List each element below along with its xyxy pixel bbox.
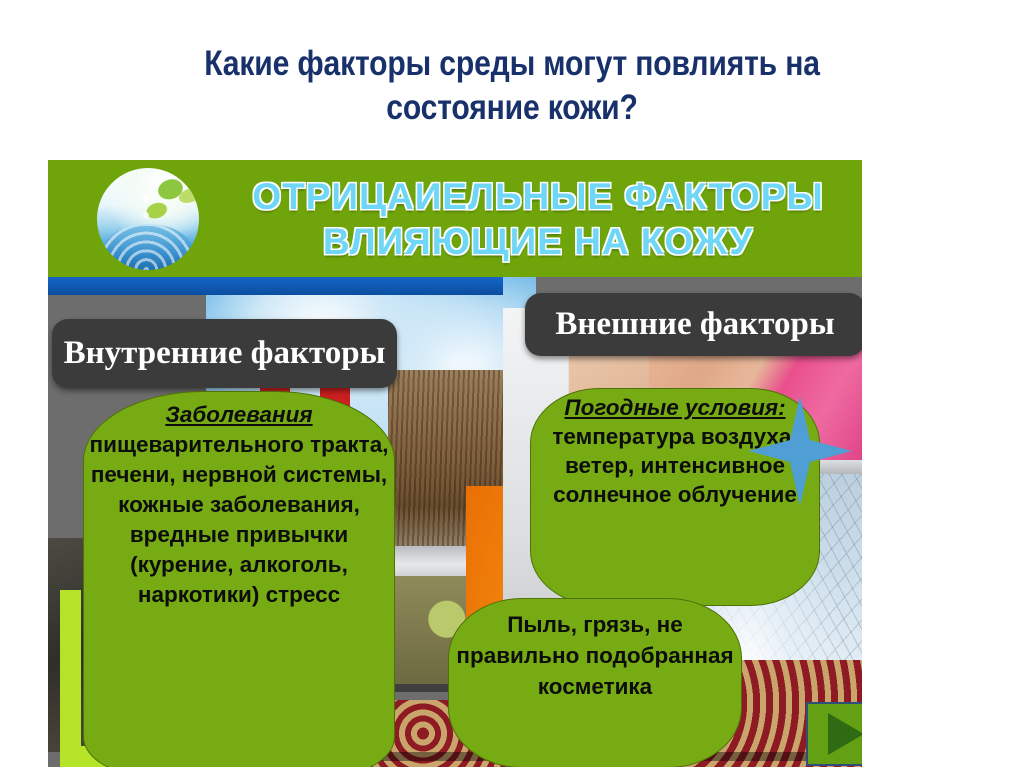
water-bamboo-logo-icon bbox=[97, 168, 199, 270]
badge-external-factors: Внешние факторы bbox=[525, 293, 862, 356]
bubble-weather-heading: Погодные условия: bbox=[564, 393, 785, 422]
bubble-internal-factors: Заболевания пищеварительного тракта, печ… bbox=[83, 391, 395, 767]
play-button[interactable] bbox=[806, 702, 862, 766]
bubble-dust-cosmetics: Пыль, грязь, не правильно подобранная ко… bbox=[448, 598, 742, 767]
accent-strip-vertical bbox=[60, 590, 81, 767]
badge-internal-factors: Внутренние факторы bbox=[52, 319, 397, 388]
bubble-weather-conditions: Погодные условия: температура воздуха, в… bbox=[530, 388, 820, 606]
page-title: Какие факторы среды могут повлиять на со… bbox=[72, 42, 953, 130]
slide-image: ОТРИЦАИЕЛЬНЫЕ ФАКТОРЫ ВЛИЯЮЩИЕ НА КОЖУ В… bbox=[48, 160, 862, 767]
bubble-dust-body: Пыль, грязь, не правильно подобранная ко… bbox=[449, 609, 741, 702]
bubble-internal-heading: Заболевания bbox=[165, 400, 312, 430]
bubble-weather-body: температура воздуха, ветер, интенсивное … bbox=[531, 422, 819, 509]
water-ripple-icon bbox=[103, 224, 193, 270]
image-header-band: ОТРИЦАИЕЛЬНЫЕ ФАКТОРЫ ВЛИЯЮЩИЕ НА КОЖУ bbox=[48, 160, 862, 277]
image-header-title: ОТРИЦАИЕЛЬНЫЕ ФАКТОРЫ ВЛИЯЮЩИЕ НА КОЖУ bbox=[223, 174, 853, 264]
play-triangle-icon bbox=[828, 713, 863, 755]
bubble-internal-body: пищеварительного тракта, печени, нервной… bbox=[84, 430, 394, 610]
blue-divider-band bbox=[48, 277, 503, 295]
